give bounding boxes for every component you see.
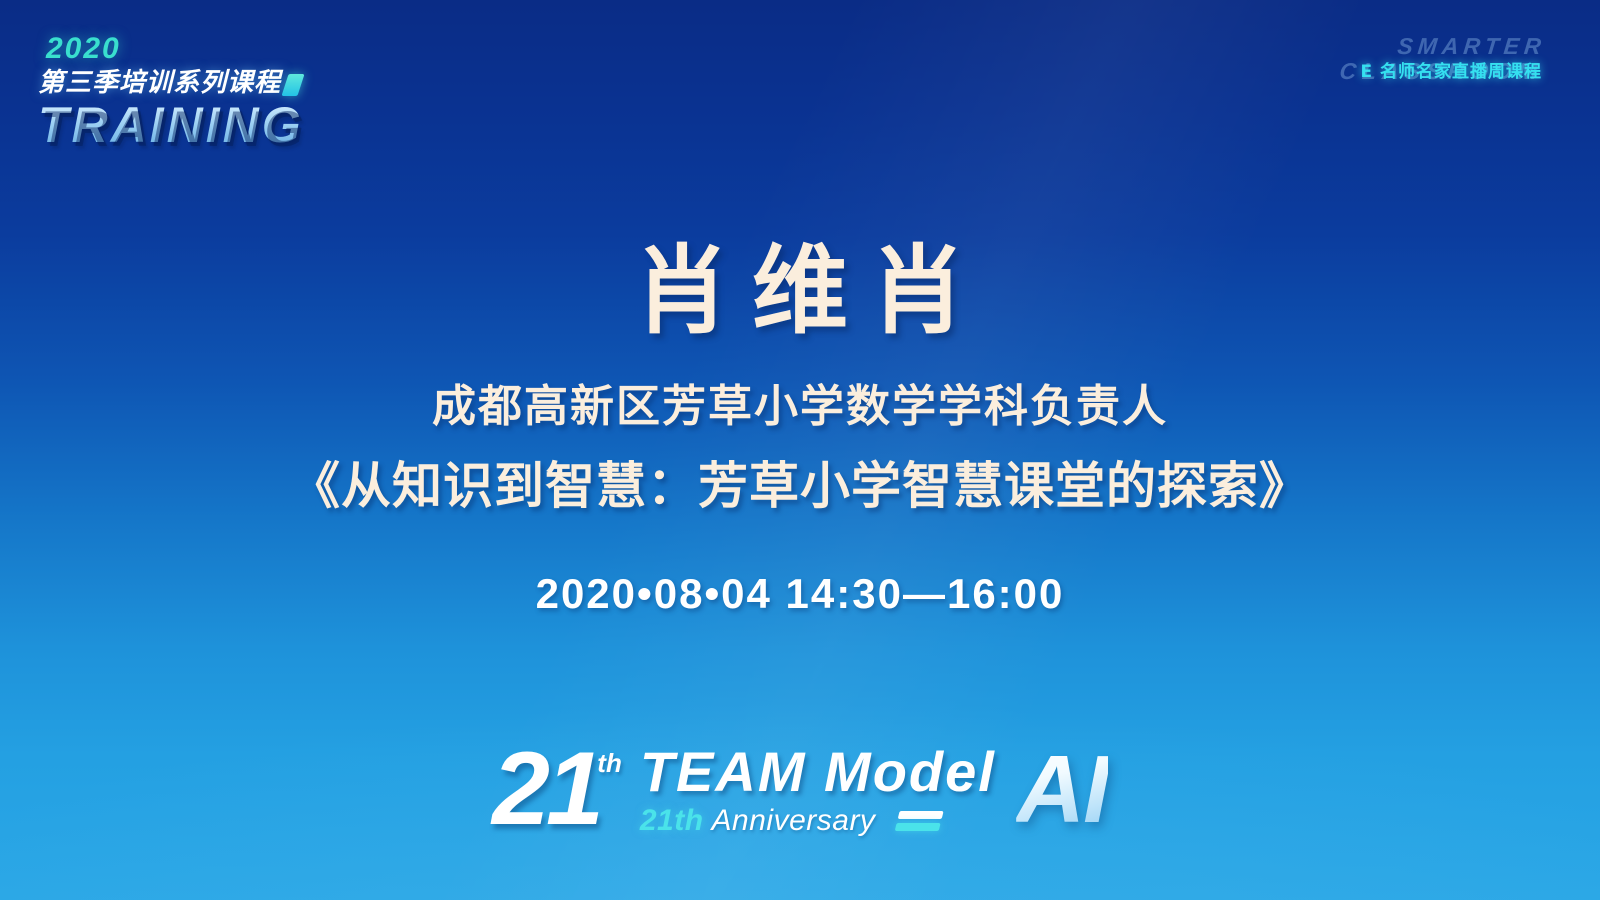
anniversary-number-large: 21 th xyxy=(492,747,606,832)
session-info: 肖维肖 成都高新区芳草小学数学学科负责人 《从知识到智慧：芳草小学智慧课堂的探索… xyxy=(0,236,1600,618)
anniversary-ordinal: th xyxy=(597,753,622,774)
anniversary-number-value: 21 xyxy=(492,731,600,847)
brandmark-text: TEAM Model 21th Anniversary xyxy=(640,744,996,836)
speaker-role: 成都高新区芳草小学数学学科负责人 xyxy=(0,370,1600,434)
anniversary-row: 21th Anniversary xyxy=(640,806,996,836)
team-model-brandmark: 21 th TEAM Model 21th Anniversary AI xyxy=(492,742,1108,838)
campaign-series-en: TRAINING xyxy=(38,100,304,150)
speaker-name: 肖维肖 xyxy=(0,236,1600,346)
campaign-year: 2020 xyxy=(46,34,304,64)
campaign-logo: 2020 第三季培训系列课程 TRAINING xyxy=(38,34,304,150)
anniversary-label: Anniversary xyxy=(712,806,876,836)
corner-brand-label: E 名师名家直播周课程 xyxy=(1360,57,1542,82)
campaign-slash-accent-icon xyxy=(281,74,304,96)
corner-brand: SMARTER CLASSROOM E 名师名家直播周课程 xyxy=(1294,34,1544,96)
campaign-series-cn: 第三季培训系列课程 xyxy=(38,70,281,96)
product-name: TEAM Model xyxy=(640,744,996,800)
double-dash-icon xyxy=(895,811,944,831)
session-schedule: 2020•08•04 14:30—16:00 xyxy=(0,570,1600,618)
talk-title: 《从知识到智慧：芳草小学智慧课堂的探索》 xyxy=(0,446,1600,518)
campaign-series-row: 第三季培训系列课程 xyxy=(38,70,304,96)
corner-watermark-line1: SMARTER xyxy=(1341,34,1547,59)
title-card-slide: 2020 第三季培训系列课程 TRAINING SMARTER CLASSROO… xyxy=(0,0,1600,900)
ai-wordmark: AI xyxy=(1016,742,1108,838)
anniversary-count: 21th xyxy=(640,806,704,836)
